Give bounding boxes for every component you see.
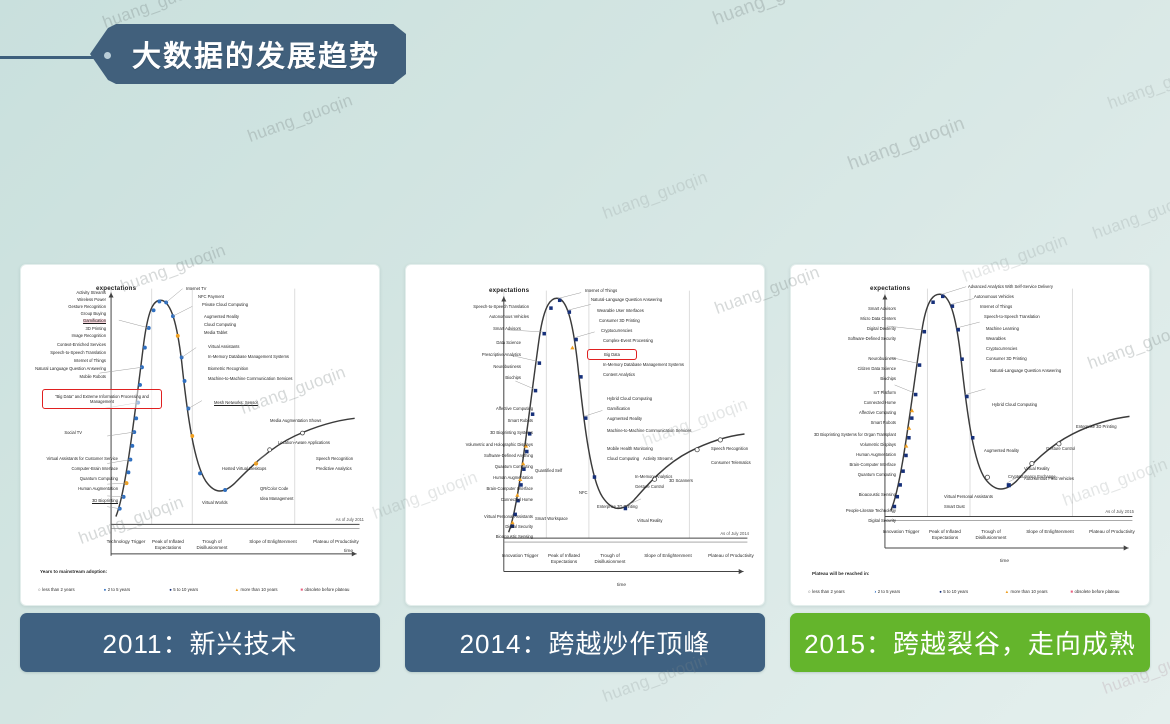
phase-label: Peak of Inflated Expectations xyxy=(924,529,966,540)
tech-label: Virtual Personal Assistants xyxy=(944,495,993,500)
x-axis-title-2015: time xyxy=(1000,559,1009,564)
tech-label: Enterprise 3D Printing xyxy=(597,505,638,510)
hype-cycle-card-2015[interactable]: expectations As of July 2015 time Innova… xyxy=(790,264,1150,674)
tech-label: Biochips xyxy=(505,376,521,381)
legend-item: ▲ more than 10 years xyxy=(1005,589,1071,594)
tech-label: Cloud Computing xyxy=(607,457,639,462)
tech-label: Quantum Computing xyxy=(80,477,118,482)
circle-blue-icon: ● xyxy=(104,587,107,592)
tech-label: Wireless Power xyxy=(77,298,106,303)
tech-label: Private Cloud Computing xyxy=(202,303,248,308)
tech-label: Mobile Robots xyxy=(80,375,106,380)
tech-label: In-Memory Analytics xyxy=(635,475,672,480)
phase-label: Plateau of Productivity xyxy=(707,553,755,559)
tech-label: Mobile Health Monitoring xyxy=(607,447,653,452)
card-caption-2015[interactable]: 2015：跨越裂谷，走向成熟 xyxy=(790,613,1150,672)
tech-label: Virtual Personal Assistants xyxy=(484,515,533,520)
tech-label: IoT Platform xyxy=(874,391,896,396)
tech-label: Software-Defined Security xyxy=(848,337,896,342)
tech-label: Computer-Brain Interface xyxy=(72,467,119,472)
tech-label: Virtual Worlds xyxy=(202,501,228,506)
phase-label: Innovation Trigger xyxy=(499,553,541,559)
phase-label: Peak of Inflated Expectations xyxy=(543,553,585,564)
tech-label: Social TV xyxy=(64,431,82,436)
tech-label: Smart Dust xyxy=(944,505,965,510)
tech-label: Hybrid Cloud Computing xyxy=(607,397,652,402)
tech-label: Gamification xyxy=(607,407,630,412)
y-axis-title-2014: expectations xyxy=(489,287,529,294)
tech-label: Group Buying xyxy=(81,312,106,317)
tech-label: Activity Streams xyxy=(643,457,673,462)
page-title: 大数据的发展趋势 xyxy=(90,24,406,84)
tech-label: Virtual Reality xyxy=(637,519,662,524)
title-connector-line xyxy=(0,56,104,59)
tech-label: Speech Recognition xyxy=(316,457,353,462)
tech-label: Autonomous Vehicles xyxy=(489,315,529,320)
tech-label: Predictive Analytics xyxy=(316,467,352,472)
tech-label: Data Science xyxy=(496,341,521,346)
tech-label: Bioacoustic Sensing xyxy=(496,535,533,540)
square-pink-icon: ■ xyxy=(1070,589,1073,594)
legend-item: ● 5 to 10 years xyxy=(169,587,235,592)
tech-label: Augmented Reality xyxy=(204,315,239,320)
hype-cycle-chart-2011[interactable]: expectations As of July 2011 time Techno… xyxy=(20,264,380,606)
tech-label: Cryptocurrencies xyxy=(601,329,632,334)
tech-label: Wearables xyxy=(986,337,1006,342)
legend-item: ■ obsolete before plateau xyxy=(1070,589,1136,594)
tech-label: Virtual Assistants for Customer Service xyxy=(47,457,119,462)
triangle-orange-icon: ▲ xyxy=(1005,589,1009,594)
tech-label: Cryptocurrencies xyxy=(986,347,1017,352)
x-axis-title-2011: time xyxy=(344,549,353,554)
tech-label: Neurobusiness xyxy=(493,365,521,370)
tech-label: People-Literate Technology xyxy=(846,509,896,514)
tech-label: Connected Home xyxy=(864,401,896,406)
tech-label: Volumetric and Holographic Displays xyxy=(466,443,533,448)
circle-navy-icon: ● xyxy=(169,587,172,592)
tech-label: Autonomous Vehicles xyxy=(974,295,1014,300)
phase-label: Slope of Enlightenment xyxy=(238,539,308,545)
tech-label: Brain-Computer Interface xyxy=(850,463,897,468)
circle-open-icon: ○ xyxy=(38,587,41,592)
tech-label: Mesh Networks: Sensor xyxy=(214,401,258,406)
tech-label: Quantified Self xyxy=(535,469,562,474)
legend-item: ◑ 2 to 5 years xyxy=(874,589,940,594)
tech-label: Wearable User Interfaces xyxy=(597,309,644,314)
watermark: huang_guoqin xyxy=(845,113,968,176)
big-data-highlight-2011: "Big Data" and Extreme Information Proce… xyxy=(42,389,162,409)
tech-label: Human Augmentation xyxy=(78,487,118,492)
watermark: huang_guoqin xyxy=(1090,187,1170,243)
tech-label: Biochips xyxy=(880,377,896,382)
tech-label: Neurobusiness xyxy=(868,357,896,362)
tech-label: Software-Defined Anything xyxy=(484,454,533,459)
hype-cycle-card-row: expectations As of July 2011 time Techno… xyxy=(20,264,1150,674)
card-caption-2011[interactable]: 2011：新兴技术 xyxy=(20,613,380,672)
tech-label: Speech-to-Speech Translation xyxy=(50,351,106,356)
phase-label: Trough of Disillusionment xyxy=(587,553,633,564)
tech-label: Gesture Recognition xyxy=(68,305,106,310)
phase-label: Trough of Disillusionment xyxy=(968,529,1014,540)
title-bullet-dot xyxy=(104,52,111,59)
tech-label: Natural Language Question Answering xyxy=(35,367,106,372)
phase-label: Plateau of Productivity xyxy=(312,539,360,545)
tech-label: Brain-Computer Interface xyxy=(487,487,534,492)
phase-label: Plateau of Productivity xyxy=(1088,529,1136,535)
card-caption-2014[interactable]: 2014：跨越炒作顶峰 xyxy=(405,613,765,672)
circle-blue-icon: ◑ xyxy=(874,589,877,594)
legend-item: ■ obsolete before plateau xyxy=(300,587,366,592)
tech-label: Biometric Recognition xyxy=(208,367,248,372)
tech-label: Activity Streams xyxy=(76,291,106,296)
tech-label: Location-Aware Applications xyxy=(278,441,330,446)
tech-label: Human Augmentation xyxy=(856,453,896,458)
tech-label: Connected Home xyxy=(501,498,533,503)
tech-label: Consumer 3D Printing xyxy=(599,319,640,324)
tech-label: Advanced Analytics With Self-Service Del… xyxy=(968,285,1053,290)
square-pink-icon: ■ xyxy=(300,587,303,592)
tech-label: Gesture Control xyxy=(1046,447,1075,452)
tech-label: Smart Advisors xyxy=(868,307,896,312)
as-of-2015: As of July 2015 xyxy=(1105,509,1134,514)
hype-curve-2011 xyxy=(26,271,374,601)
tech-label: NFC xyxy=(579,491,588,496)
tech-label: Consumer 3D Printing xyxy=(986,357,1027,362)
tech-label: 3D Bioprinting Systems for Organ Transpl… xyxy=(814,433,896,438)
tech-label: Machine Learning xyxy=(986,327,1019,332)
hype-cycle-card-2011[interactable]: expectations As of July 2011 time Techno… xyxy=(20,264,380,674)
phase-label: Peak of Inflated Expectations xyxy=(148,539,188,550)
tech-label: Idea Management xyxy=(260,497,293,502)
phase-label: Slope of Enlightenment xyxy=(1016,529,1084,535)
hype-cycle-card-2014[interactable]: expectations As of July 2014 time Innova… xyxy=(405,264,765,674)
tech-label: Content Analytics xyxy=(603,373,635,378)
tech-label: Autonomous Field Vehicles xyxy=(1024,477,1074,482)
tech-label: Virtual Assistants xyxy=(208,345,239,350)
as-of-2014: As of July 2014 xyxy=(720,531,749,536)
tech-label: Digital Dexterity xyxy=(867,327,896,332)
phase-label: Trough of Disillusionment xyxy=(190,539,234,550)
tech-label: NFC Payment xyxy=(198,295,224,300)
tech-label: Smart Robots xyxy=(871,421,896,426)
watermark: huang_guoqin xyxy=(710,0,833,31)
tech-label: Smart Advisors xyxy=(493,327,521,332)
tech-label: Enterprise 3D Printing xyxy=(1076,425,1117,430)
tech-label: Speech-to-Speech Translation xyxy=(984,315,1040,320)
tech-label: Gamification xyxy=(83,319,106,324)
tech-label: Human Augmentation xyxy=(493,476,533,481)
y-axis-title-2015: expectations xyxy=(870,285,910,292)
tech-label: Virtual Reality xyxy=(1024,467,1049,472)
tech-label: Internet of Things xyxy=(585,289,617,294)
tech-label: Speech-to-Speech Translation xyxy=(473,305,529,310)
legend-item: ● 5 to 10 years xyxy=(939,589,1005,594)
watermark: huang_guoqin xyxy=(1105,57,1170,113)
tech-label: Image Recognition xyxy=(71,334,106,339)
phase-label: Innovation Trigger xyxy=(880,529,922,535)
circle-open-icon: ○ xyxy=(808,589,811,594)
tech-label: In-Memory Database Management Systems xyxy=(208,355,289,360)
tech-label: Machine-to-Machine Communication Service… xyxy=(607,429,691,434)
tech-label: Volumetric Displays xyxy=(860,443,896,448)
tech-label: Quantum Computing xyxy=(858,473,896,478)
tech-label: 3D Scanners xyxy=(669,479,693,484)
tech-label: Machine-to-Machine Communication Service… xyxy=(208,377,292,382)
tech-label: Affective Computing xyxy=(859,411,896,416)
big-data-highlight-2014: Big Data xyxy=(587,349,637,360)
tech-label: Hybrid Cloud Computing xyxy=(992,403,1037,408)
circle-navy-icon: ● xyxy=(939,589,942,594)
legend-item: ○ less than 2 years xyxy=(808,589,874,594)
tech-label: Prescriptive Analytics xyxy=(482,353,521,358)
hype-cycle-chart-2014[interactable]: expectations As of July 2014 time Innova… xyxy=(405,264,765,606)
tech-label: QR/Color Code xyxy=(260,487,288,492)
tech-label: Internet of Things xyxy=(980,305,1012,310)
tech-label: Augmented Reality xyxy=(984,449,1019,454)
tech-label: In-Memory Database Management Systems xyxy=(603,363,684,368)
tech-label: Cloud Computing xyxy=(204,323,236,328)
watermark: huang_guoqin xyxy=(245,90,355,146)
tech-label: Speech Recognition xyxy=(711,447,748,452)
tech-label: 3D Printing xyxy=(86,327,106,332)
legend-2011: ○ less than 2 years ● 2 to 5 years ● 5 t… xyxy=(26,587,374,592)
tech-label: Natural-Language Question Answering xyxy=(591,298,662,303)
tech-label: Complex-Event Processing xyxy=(603,339,653,344)
tech-label: Digital Security xyxy=(868,519,896,524)
phase-label: Technology Trigger xyxy=(106,539,146,545)
tech-label: Consumer Telematics xyxy=(711,461,751,466)
as-of-2011: As of July 2011 xyxy=(336,517,364,522)
tech-label: Smart Workspace xyxy=(535,517,568,522)
tech-label: Media Augmentation Shows xyxy=(270,419,321,424)
tech-label: 3D Bioprinting xyxy=(92,499,118,504)
tech-label: Augmented Reality xyxy=(607,417,642,422)
tech-label: Quantum Computing xyxy=(495,465,533,470)
tech-label: Natural-Language Question Answering xyxy=(990,369,1061,374)
tech-label: Internet TV xyxy=(186,287,206,292)
phase-label: Slope of Enlightenment xyxy=(633,553,703,559)
tech-label: 3D Bioprinting Systems xyxy=(490,431,533,436)
tech-label: Digital Security xyxy=(505,525,533,530)
tech-label: Internet of Things xyxy=(74,359,106,364)
tech-label: Affective Computing xyxy=(496,407,533,412)
tech-label: Context-Enriched Services xyxy=(57,343,106,348)
legend-title-2011: Years to mainstream adoption: xyxy=(40,569,107,574)
tech-label: Bioacoustic Sensing xyxy=(859,493,896,498)
tech-label: Hosted Virtual Desktops xyxy=(222,467,266,472)
watermark: huang_guoqin xyxy=(600,167,710,223)
x-axis-title-2014: time xyxy=(617,583,626,588)
hype-curve-2014 xyxy=(411,271,759,601)
tech-label: Smart Robots xyxy=(508,419,533,424)
tech-label: Media Tablet xyxy=(204,331,227,336)
triangle-orange-icon: ▲ xyxy=(235,587,239,592)
tech-label: Gesture Control xyxy=(635,485,664,490)
tech-label: Citizen Data Science xyxy=(858,367,896,372)
tech-label: Micro Data Centers xyxy=(860,317,896,322)
legend-item: ○ less than 2 years xyxy=(38,587,104,592)
legend-item: ● 2 to 5 years xyxy=(104,587,170,592)
legend-2015: ○ less than 2 years ◑ 2 to 5 years ● 5 t… xyxy=(796,589,1144,594)
hype-cycle-chart-2015[interactable]: expectations As of July 2015 time Innova… xyxy=(790,264,1150,606)
legend-title-2015: Plateau will be reached in: xyxy=(812,571,869,576)
legend-item: ▲ more than 10 years xyxy=(235,587,301,592)
